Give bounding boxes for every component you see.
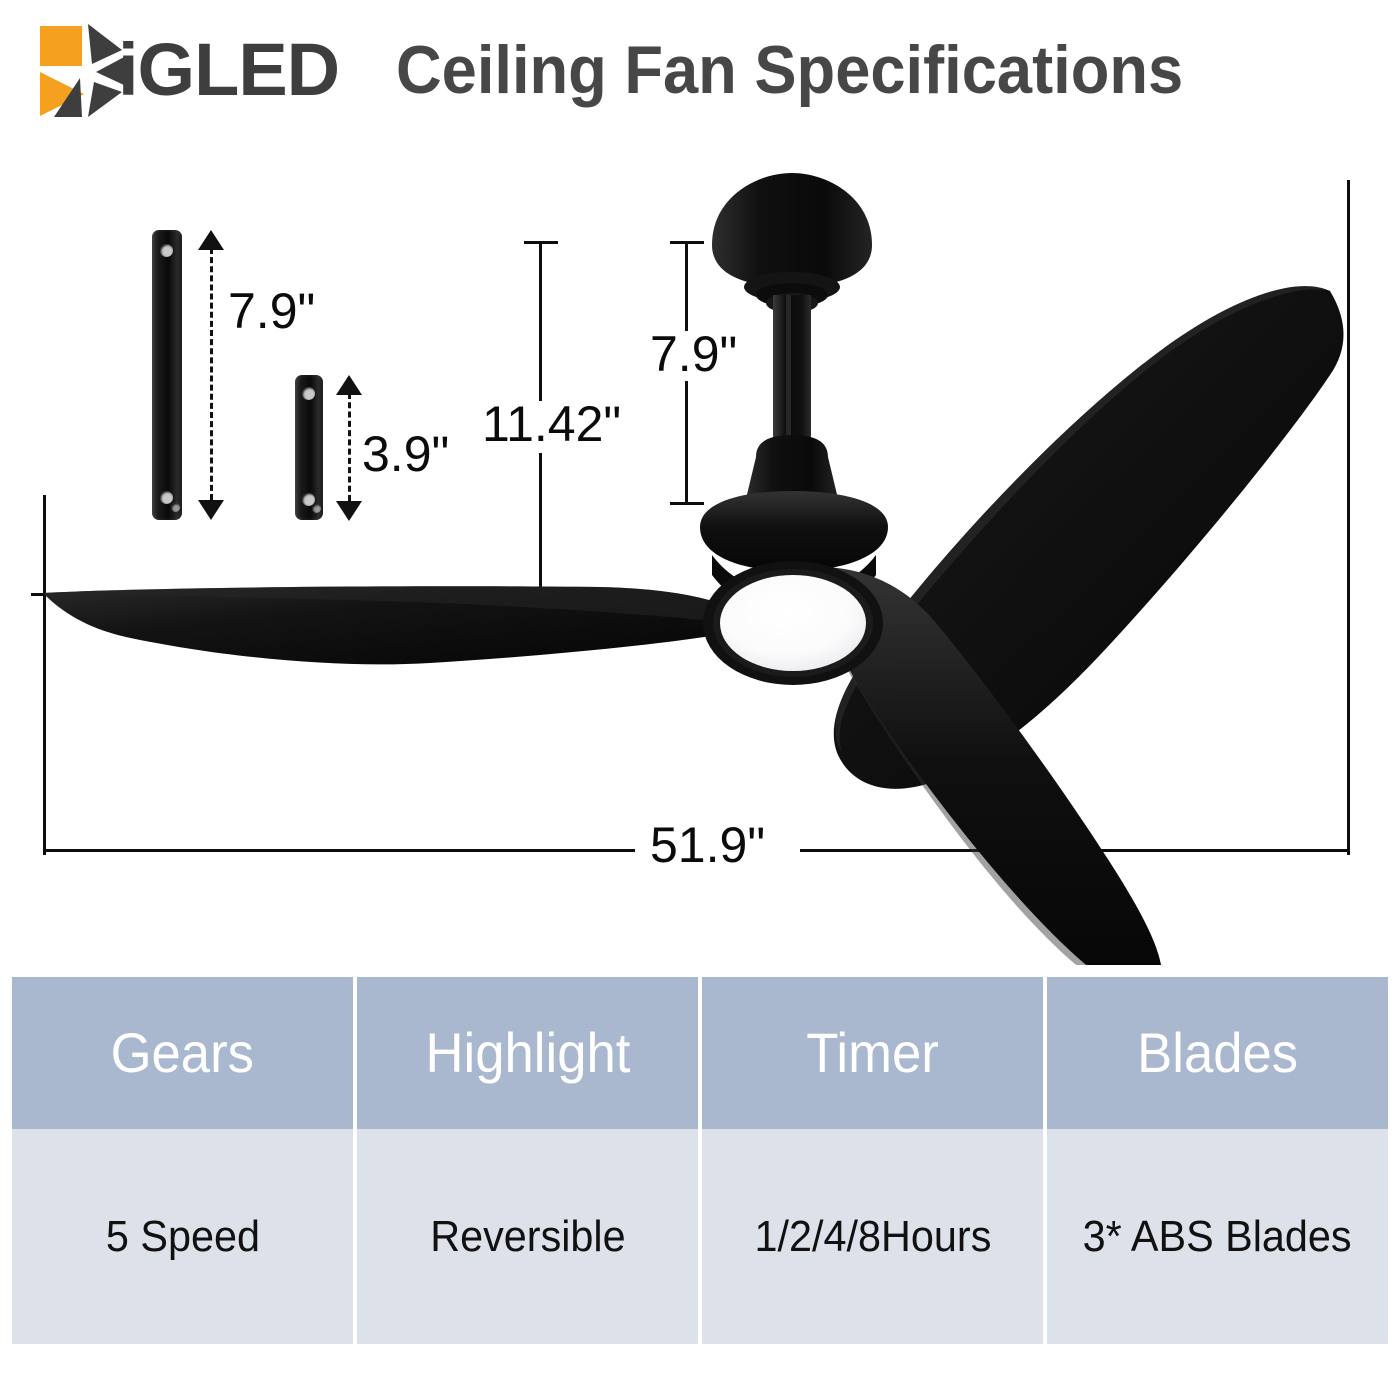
table-header-highlight-label: Highlight	[425, 1025, 630, 1081]
aperture-logo-icon	[36, 20, 128, 120]
ceiling-fan-illustration	[0, 135, 1400, 965]
page-title: Ceiling Fan Specifications	[396, 26, 1270, 114]
page-header: iGLED Ceiling Fan Specifications	[0, 0, 1400, 135]
led-light-module	[703, 561, 883, 685]
table-cell-blades-value: 3* ABS Blades	[1083, 1215, 1352, 1259]
downrod	[773, 295, 811, 455]
table-cell-timer: 1/2/4/8Hours	[702, 1129, 1047, 1344]
table-cell-timer-value: 1/2/4/8Hours	[754, 1215, 991, 1259]
table-cell-gears: 5 Speed	[12, 1129, 357, 1344]
brand-wordmark: iGLED	[118, 24, 339, 116]
diagram-area: 7.9" 3.9" 11.42" 7.9" 51.9"	[0, 135, 1400, 965]
table-header-blades: Blades	[1047, 977, 1388, 1129]
table-row: 5 Speed Reversible 1/2/4/8Hours 3* ABS B…	[12, 1129, 1388, 1344]
ceiling-canopy	[712, 173, 872, 313]
specification-table: Gears Highlight Timer Blades 5 Speed Rev…	[12, 977, 1388, 1344]
table-header-timer: Timer	[702, 977, 1047, 1129]
fan-blade-left	[43, 586, 760, 664]
table-header-row: Gears Highlight Timer Blades	[12, 977, 1388, 1129]
table-header-blades-label: Blades	[1137, 1025, 1298, 1081]
table-header-timer-label: Timer	[806, 1025, 939, 1081]
table-header-highlight: Highlight	[357, 977, 702, 1129]
table-cell-blades: 3* ABS Blades	[1047, 1129, 1388, 1344]
table-cell-highlight: Reversible	[357, 1129, 702, 1344]
table-cell-gears-value: 5 Speed	[105, 1215, 259, 1259]
table-header-gears-label: Gears	[111, 1025, 254, 1081]
product-spec-page: iGLED Ceiling Fan Specifications 7.9" 3.…	[0, 0, 1400, 1400]
table-header-gears: Gears	[12, 977, 357, 1129]
table-cell-highlight-value: Reversible	[430, 1215, 625, 1259]
